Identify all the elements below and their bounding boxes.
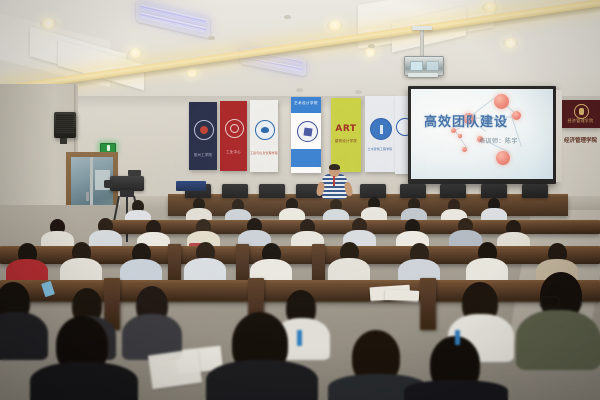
banner-red-subtitle: 工业中心 [220,151,247,154]
video-camera-body [110,176,144,191]
banner-pale: 土木建筑工程学院 [365,96,395,172]
banner-blue: 艺术设计学院 [291,97,321,173]
projection-screen: 高效团队建设 培训师：陈宇 [411,89,553,179]
banner-pale-emblem [370,118,392,140]
lanyard-badge-1 [297,330,302,346]
front-chair-2 [222,184,248,198]
tripod-head [120,190,134,197]
projector-ceiling-plate [412,26,432,30]
banner-maroon-emblem [574,104,589,119]
audience-body-e1 [30,362,138,400]
projector-base-plate [408,73,438,77]
slide-node-2 [512,111,521,120]
downlight-2 [128,48,143,58]
door-handle [86,192,89,201]
downlight-4 [327,20,343,31]
audience-body-e2 [206,360,318,400]
banner-maroon: 经济管理学院 [561,100,600,128]
slide-node-5 [458,134,462,138]
banner-blue-footer [291,149,321,167]
smoke-detector-1 [284,15,291,19]
video-camera-viewfinder [128,170,141,176]
downlight-5 [363,48,377,57]
video-camera-lens [104,180,113,188]
banner-art-title: ART [331,125,361,134]
banner-red-emblem [225,119,244,138]
wall-speaker-grille [56,114,74,134]
lanyard-badge-2 [455,330,460,345]
slide-node-7 [462,147,467,152]
projector-vent [426,61,439,71]
right-wall-panel [556,90,562,182]
banner-maroon-caption: 经济管理学院 [561,136,600,144]
front-chair-8 [481,184,507,198]
banner-navy: 常州工学院 [189,102,217,170]
smoke-detector-3 [296,88,303,92]
wall-speaker-bracket [60,138,67,144]
desk-papers-2 [385,289,420,302]
banner-white-emblem [255,120,275,140]
audience-body-d1 [0,312,48,360]
downlight-1 [40,18,57,29]
held-paper [148,349,202,390]
slide-title: 高效团队建设 [424,111,508,130]
banner-blue-emblem [297,121,318,142]
banner-blue-title: 艺术设计学院 [291,102,321,106]
audience-glasses-icon [540,296,560,308]
banner-pale-subtitle: 土木建筑工程学院 [365,148,395,151]
projector-mount-pole [420,29,424,58]
banner-navy-emblem [194,120,214,140]
banner-maroon-title: 经济管理学院 [561,119,600,123]
smoke-detector-4 [355,90,362,94]
projector-lens [410,61,423,71]
stage-name-board [176,181,206,191]
downlight-6 [482,2,498,13]
banner-white-subtitle: 工商与信息管理学院 [250,152,278,155]
slide-node-1 [494,94,509,109]
banner-art-subtitle: 建筑设计学院 [331,140,361,143]
smoke-detector-2 [208,36,215,40]
downlight-7 [503,38,518,48]
slide-edge-7 [455,130,468,149]
wall-speaker [54,112,76,138]
slide-subtitle: 培训师：陈宇 [479,136,518,145]
front-chair-6 [400,184,426,198]
bench-end-c-3 [420,278,436,330]
audience-body-d6 [516,310,600,370]
ceiling-vent [86,88,95,92]
front-chair-5 [360,184,386,198]
front-chair-9 [522,184,548,198]
front-chair-3 [259,184,285,198]
banner-art: ART 建筑设计学院 [331,98,361,172]
banner-red: 工业中心 [220,101,247,171]
presenter-hair [329,164,340,170]
banner-navy-subtitle: 常州工学院 [189,154,217,157]
audience-body-e4 [404,380,508,400]
lecture-hall-photo: 常州工学院 工业中心 工商与信息管理学院 艺术设计学院 ART 建筑设计学院 土… [0,0,600,400]
presenter-lanyard [333,176,335,186]
slide-node-8 [496,151,510,165]
front-chair-7 [440,184,466,198]
bench-row-c-top [0,280,600,285]
banner-white: 工商与信息管理学院 [250,100,278,172]
exit-sign-figure-icon [107,145,110,151]
